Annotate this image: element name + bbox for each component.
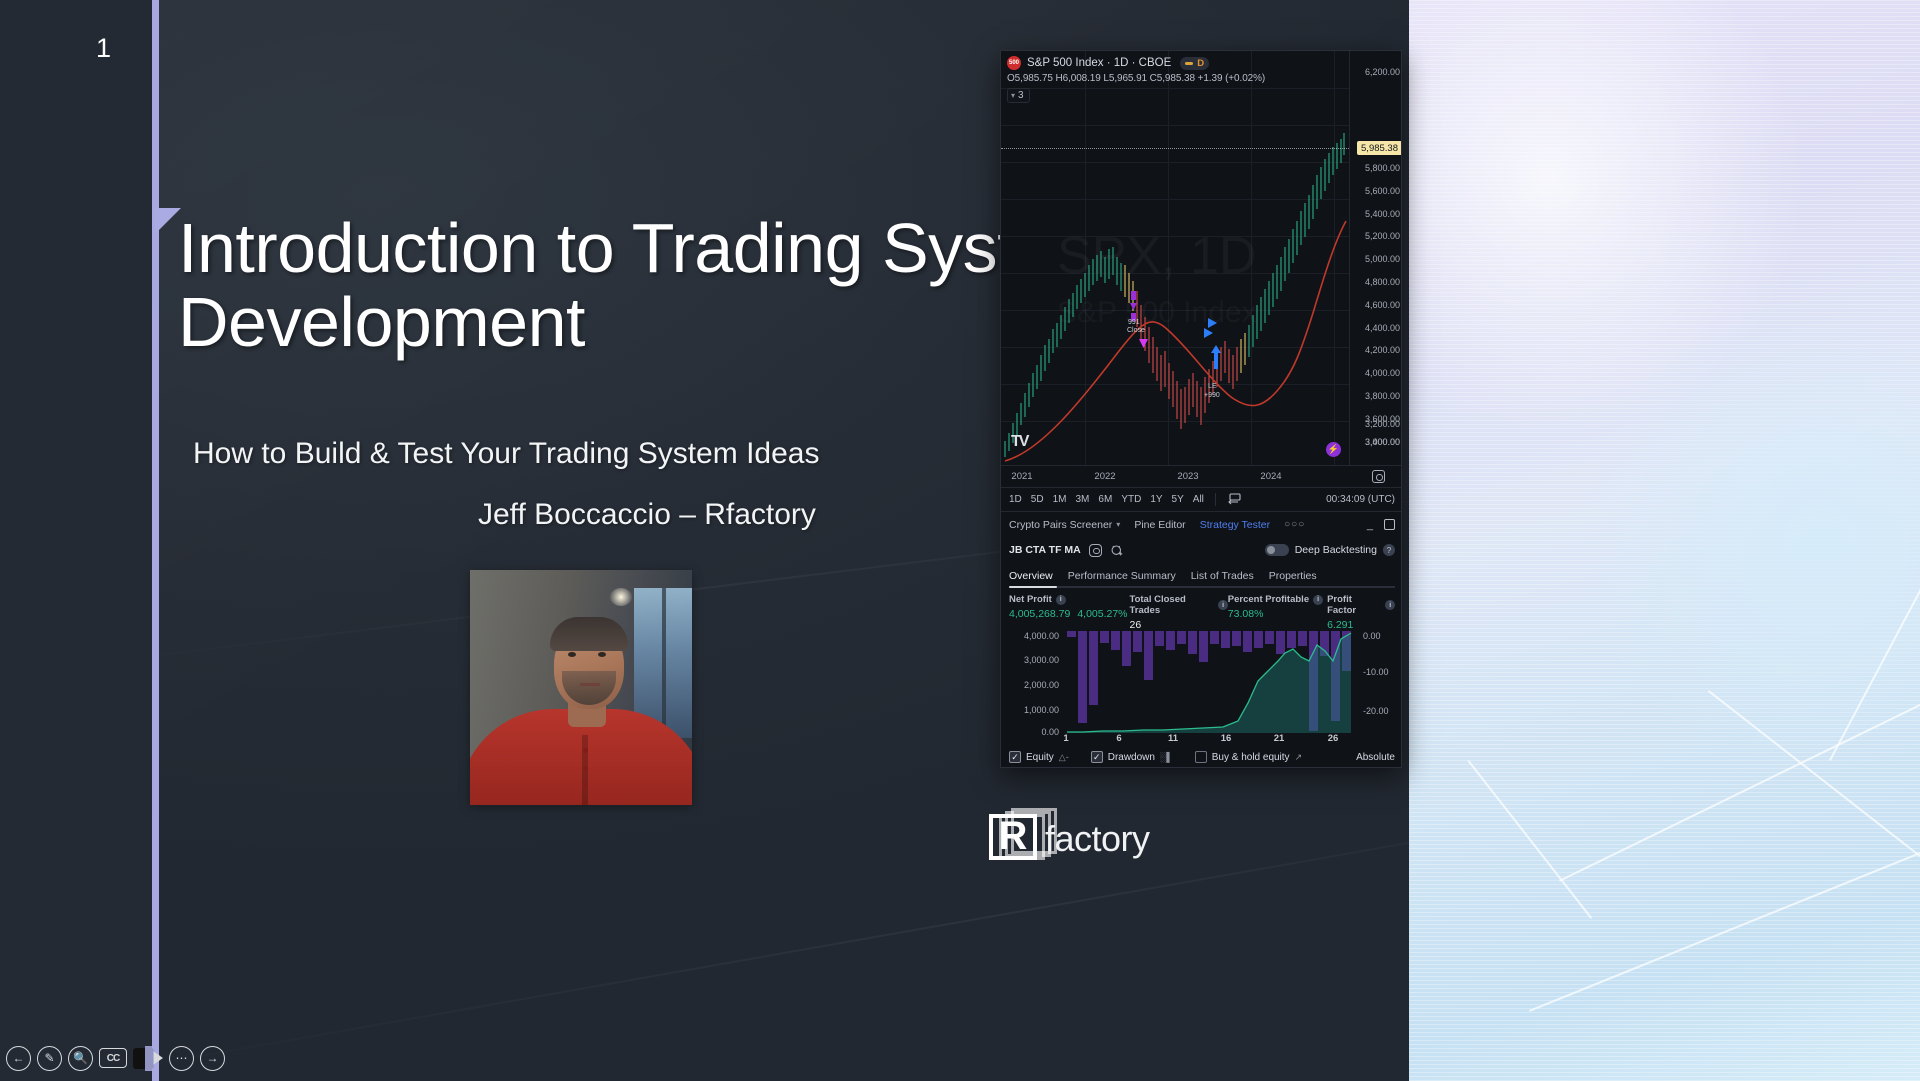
deep-backtesting-toggle[interactable] — [1265, 544, 1289, 556]
strategy-bar[interactable]: JB CTA TF MA Deep Backtesting ? — [1001, 537, 1402, 563]
price-tick: 5,600.00 — [1365, 186, 1400, 196]
indicator-collapse-toggle[interactable]: ▾ 3 — [1007, 88, 1030, 103]
report-tabs[interactable]: Overview Performance Summary List of Tra… — [1001, 563, 1402, 588]
logo-wordmark: factory — [1045, 818, 1150, 860]
metric-total-closed-trades: Total Closed Trades i 26 — [1129, 594, 1227, 628]
price-chart[interactable]: SPX, 1D S&P 500 Index 500 S&P 500 Index … — [1001, 51, 1402, 465]
tab-label: Crypto Pairs Screener — [1009, 519, 1112, 531]
trade-tick: 21 — [1274, 733, 1285, 744]
price-tick: 4,600.00 — [1365, 300, 1400, 310]
time-axis[interactable]: 2021 2022 2023 2024 — [1001, 465, 1402, 487]
equity-left-axis: 4,000.00 3,000.00 2,000.00 1,000.00 0.00 — [1001, 631, 1063, 741]
sp500-badge-icon: 500 — [1007, 56, 1021, 70]
chart-legend: 500 S&P 500 Index · 1D · CBOE D O5,985.7… — [1007, 56, 1265, 103]
maximize-icon[interactable] — [1384, 519, 1395, 530]
chart-clock: 00:34:09 (UTC) — [1326, 494, 1395, 505]
equity-area — [1067, 633, 1351, 733]
deep-backtesting-label: Deep Backtesting — [1295, 544, 1377, 556]
legend-item-buy-and-hold[interactable]: Buy & hold equity ↗ — [1195, 751, 1302, 763]
lightning-icon[interactable]: ⚡ — [1326, 442, 1341, 457]
svg-text:991: 991 — [1128, 319, 1140, 326]
svg-text:Close: Close — [1127, 327, 1145, 334]
deep-backtesting-control[interactable]: Deep Backtesting ? — [1265, 544, 1395, 556]
photo-shirt-button — [583, 766, 588, 771]
drawdown-tick: -20.00 — [1363, 706, 1389, 716]
moving-average-line — [1005, 221, 1346, 461]
metric-net-profit: Net Profit i 4,005,268.79 4,005.27% — [1009, 594, 1129, 628]
sparkline-icon: △‐ — [1059, 752, 1069, 763]
trade-tick: 26 — [1328, 733, 1339, 744]
equity-tick: 4,000.00 — [1024, 631, 1059, 641]
equity-tick: 3,000.00 — [1024, 655, 1059, 665]
metric-label: Net Profit — [1009, 594, 1052, 605]
timeframe-1d[interactable]: 1D — [1009, 494, 1022, 505]
price-tick: 5,200.00 — [1365, 231, 1400, 241]
help-icon[interactable]: ? — [1383, 544, 1395, 556]
equity-right-axis: 0.00 -10.00 -20.00 — [1355, 631, 1402, 741]
info-icon[interactable]: i — [1313, 595, 1323, 605]
price-tick: 4,200.00 — [1365, 345, 1400, 355]
timeframe-ytd[interactable]: YTD — [1121, 494, 1141, 505]
equity-legend[interactable]: ✓ Equity △‐ ✓ Drawdown ░▌ Buy & hold equ… — [1009, 747, 1395, 767]
metrics-row: Net Profit i 4,005,268.79 4,005.27% Tota… — [1009, 594, 1395, 628]
price-tick: 6,200.00 — [1365, 67, 1400, 77]
legend-item-drawdown[interactable]: ✓ Drawdown ░▌ — [1091, 751, 1173, 763]
slide-accent-bar — [152, 0, 159, 1081]
tradingview-logo: TV — [1011, 433, 1027, 451]
chevron-down-icon: ▾ — [1116, 520, 1120, 529]
equity-chart[interactable]: 4,000.00 3,000.00 2,000.00 1,000.00 0.00 — [1001, 631, 1402, 741]
time-tick: 2023 — [1177, 471, 1198, 482]
drawdown-tick: 0.00 — [1363, 631, 1381, 641]
info-icon[interactable]: i — [1385, 600, 1395, 610]
legend-label: Drawdown — [1108, 752, 1155, 763]
drawdown-tick: -10.00 — [1363, 667, 1389, 677]
more-options-icon[interactable]: ○○○ — [1284, 519, 1305, 530]
equity-scale-mode[interactable]: Absolute — [1356, 752, 1395, 763]
drawdown-checkbox[interactable]: ✓ — [1091, 751, 1103, 763]
equity-tick: 1,000.00 — [1024, 705, 1059, 715]
slide-number: 1 — [96, 33, 111, 64]
timeframe-5y[interactable]: 5Y — [1172, 494, 1184, 505]
crosshair-target-icon[interactable] — [1372, 470, 1385, 483]
player-toolbar[interactable]: ← ✎ 🔍 CC ⋯ → — [0, 1041, 240, 1075]
indicator-count: 3 — [1018, 90, 1024, 101]
strategy-settings-icon[interactable] — [1089, 544, 1102, 557]
pen-button[interactable]: ✎ — [37, 1046, 62, 1071]
trade-tick: 16 — [1221, 733, 1232, 744]
panel-window-controls[interactable]: _ — [1367, 519, 1395, 530]
camera-button[interactable] — [133, 1048, 163, 1069]
trade-tick: 1 — [1063, 733, 1068, 744]
slide-root: 1 Introduction to Trading System Develop… — [0, 0, 1920, 1081]
price-tick: 3,000.00 — [1365, 437, 1400, 447]
back-button[interactable]: ← — [6, 1046, 31, 1071]
photo-eye — [568, 652, 576, 657]
price-axis[interactable]: 6,200.00 5,985.38 5,800.00 5,600.00 5,40… — [1349, 51, 1402, 465]
timeframe-all[interactable]: All — [1193, 494, 1204, 505]
camera-highlight — [145, 1046, 154, 1071]
tab-performance-summary[interactable]: Performance Summary — [1068, 570, 1176, 582]
timeframe-5d[interactable]: 5D — [1031, 494, 1044, 505]
photo-window-frame — [662, 588, 666, 738]
time-tick: 2022 — [1094, 471, 1115, 482]
info-icon[interactable]: i — [1218, 600, 1227, 610]
photo-shirt-button — [583, 784, 588, 789]
metric-profit-factor: Profit Factor i 6.291 — [1327, 594, 1395, 628]
metric-value: 73.08% — [1228, 608, 1264, 620]
camera-lens-icon — [153, 1051, 163, 1065]
tab-properties[interactable]: Properties — [1269, 570, 1317, 582]
trade-tick: 11 — [1168, 733, 1178, 744]
presenter-photo — [470, 570, 692, 805]
price-tick: 4,400.00 — [1365, 323, 1400, 333]
legend-label: Equity — [1026, 752, 1054, 763]
timeframe-1y[interactable]: 1Y — [1150, 494, 1162, 505]
metric-value-pct: 4,005.27% — [1077, 608, 1127, 620]
timeframe-bar[interactable]: 1D 5D 1M 3M 6M YTD 1Y 5Y All 00:34:09 (U… — [1001, 487, 1402, 511]
metric-value: 6.291 — [1327, 619, 1353, 631]
price-tick: 3,800.00 — [1365, 391, 1400, 401]
equity-tick: 0.00 — [1041, 727, 1059, 737]
photo-shirt-button — [583, 748, 588, 753]
bars-icon: ░▌ — [1160, 752, 1173, 762]
info-icon[interactable]: i — [1056, 595, 1066, 605]
slide-decorative-panel — [1409, 0, 1920, 1081]
price-tick: 3,200.00 — [1365, 419, 1400, 429]
equity-tick: 2,000.00 — [1024, 680, 1059, 690]
indicator-chip[interactable]: D — [1180, 57, 1209, 70]
trade-tick: 6 — [1116, 733, 1121, 744]
tab-pine-editor[interactable]: Pine Editor — [1134, 519, 1185, 531]
current-price-line — [1001, 148, 1349, 149]
buy-and-hold-checkbox[interactable] — [1195, 751, 1207, 763]
metric-label: Percent Profitable — [1228, 594, 1309, 605]
equity-plot — [1063, 631, 1355, 733]
tab-overview[interactable]: Overview — [1009, 570, 1053, 582]
date-range-icon[interactable] — [1227, 493, 1242, 506]
minimize-icon[interactable]: _ — [1367, 523, 1373, 527]
strategy-name[interactable]: JB CTA TF MA — [1009, 544, 1081, 556]
bottom-panel-tabs[interactable]: Crypto Pairs Screener ▾ Pine Editor Stra… — [1001, 511, 1402, 537]
chip-dash-icon — [1185, 62, 1193, 65]
logo-letter: R — [989, 814, 1037, 860]
price-tick: 5,000.00 — [1365, 254, 1400, 264]
line-icon: ↗ — [1295, 752, 1303, 763]
equity-checkbox[interactable]: ✓ — [1009, 751, 1021, 763]
divider — [1215, 493, 1216, 506]
chart-ohlc-values: O5,985.75 H6,008.19 L5,965.91 C5,985.38 … — [1007, 73, 1265, 84]
price-tick: 5,800.00 — [1365, 163, 1400, 173]
metric-percent-profitable: Percent Profitable i 73.08% — [1228, 594, 1327, 628]
time-tick: 2021 — [1011, 471, 1032, 482]
forward-button[interactable]: → — [200, 1046, 225, 1071]
legend-label: Buy & hold equity — [1212, 752, 1290, 763]
price-tick: 4,000.00 — [1365, 368, 1400, 378]
rfactory-logo: R factory — [989, 808, 1139, 860]
svg-text:LE: LE — [1208, 383, 1217, 390]
chart-symbol-title[interactable]: S&P 500 Index · 1D · CBOE — [1027, 57, 1171, 69]
timeframe-6m[interactable]: 6M — [1098, 494, 1112, 505]
current-price-label: 5,985.38 — [1357, 141, 1402, 155]
chevron-down-icon: ▾ — [1011, 91, 1015, 100]
timeframe-3m[interactable]: 3M — [1076, 494, 1090, 505]
photo-eye — [598, 652, 606, 657]
more-button[interactable]: ⋯ — [169, 1046, 194, 1071]
photo-ceiling-light — [610, 588, 632, 606]
svg-text:+990: +990 — [1204, 392, 1220, 399]
timeframe-1m[interactable]: 1M — [1053, 494, 1067, 505]
tab-list-of-trades[interactable]: List of Trades — [1191, 570, 1254, 582]
captions-button[interactable]: CC — [99, 1048, 127, 1068]
time-tick: 2024 — [1260, 471, 1281, 482]
price-tick: 4,800.00 — [1365, 277, 1400, 287]
add-alert-icon[interactable] — [1110, 543, 1124, 557]
slide-left-pane — [0, 0, 152, 1081]
tab-crypto-pairs-screener[interactable]: Crypto Pairs Screener ▾ — [1009, 519, 1120, 531]
metric-value: 26 — [1129, 619, 1141, 631]
metric-value: 4,005,268.79 — [1009, 608, 1070, 620]
chip-label: D — [1197, 58, 1204, 69]
tab-strategy-tester[interactable]: Strategy Tester — [1200, 519, 1270, 531]
candlestick-series: 991 Close LE +990 — [1001, 51, 1349, 465]
legend-item-equity[interactable]: ✓ Equity △‐ — [1009, 751, 1069, 763]
photo-hair — [550, 617, 628, 651]
report-tab-scrollbar[interactable] — [1009, 586, 1395, 588]
zoom-button[interactable]: 🔍 — [68, 1046, 93, 1071]
metric-label: Total Closed Trades — [1129, 594, 1214, 616]
photo-mouth — [580, 683, 600, 686]
tradingview-window[interactable]: SPX, 1D S&P 500 Index 500 S&P 500 Index … — [1000, 50, 1402, 768]
metric-label: Profit Factor — [1327, 594, 1381, 616]
price-tick: 5,400.00 — [1365, 209, 1400, 219]
